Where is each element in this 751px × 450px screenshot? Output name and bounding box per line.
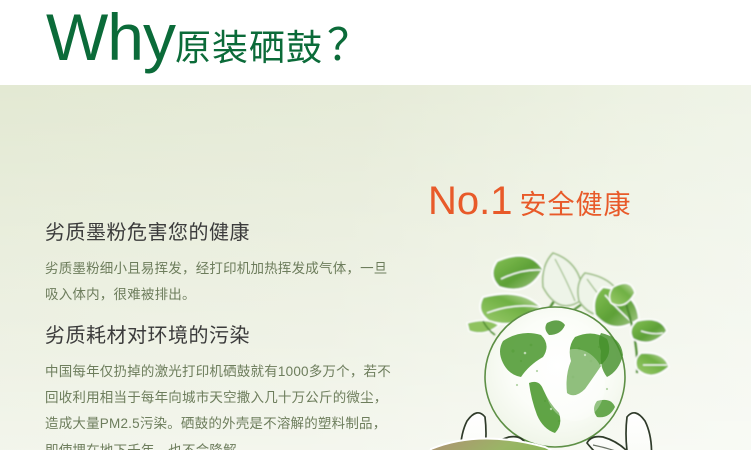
content-block-health: 劣质墨粉危害您的健康 劣质墨粉细小且易挥发，经打印机加热挥发成气体，一旦吸入体内…: [45, 222, 425, 309]
block-heading: 劣质墨粉危害您的健康: [45, 222, 425, 244]
header-band: Why原装硒鼓？: [0, 0, 751, 85]
promo-banner: Why原装硒鼓？ No.1安全健康 劣质墨粉危害您的健康 劣质墨粉细小且易挥发，…: [0, 0, 751, 450]
globe-group: [485, 307, 625, 447]
promo-rank-number: No.1: [428, 179, 513, 223]
block-heading: 劣质耗材对环境的污染: [45, 325, 425, 347]
page-title-question-mark: ？: [327, 21, 371, 70]
promo-headline: No.1安全健康: [428, 181, 632, 221]
content-band: No.1安全健康 劣质墨粉危害您的健康 劣质墨粉细小且易挥发，经打印机加热挥发成…: [0, 85, 751, 450]
page-title: Why原装硒鼓？: [46, 4, 371, 70]
text-column: 劣质墨粉危害您的健康 劣质墨粉细小且易挥发，经打印机加热挥发成气体，一旦吸入体内…: [45, 222, 425, 450]
green-earth-in-hands-illustration: [425, 225, 735, 450]
block-body: 劣质墨粉细小且易挥发，经打印机加热挥发成气体，一旦吸入体内，很难被排出。: [45, 256, 400, 309]
content-block-environment: 劣质耗材对环境的污染 中国每年仅扔掉的激光打印机硒鼓就有1000多万个，若不回收…: [45, 325, 425, 450]
block-body: 中国每年仅扔掉的激光打印机硒鼓就有1000多万个，若不回收利用相当于每年向城市天…: [45, 359, 400, 450]
page-title-chinese: 原装硒鼓: [175, 27, 323, 68]
promo-rank-label: 安全健康: [520, 190, 632, 220]
page-title-english: Why: [46, 0, 175, 74]
